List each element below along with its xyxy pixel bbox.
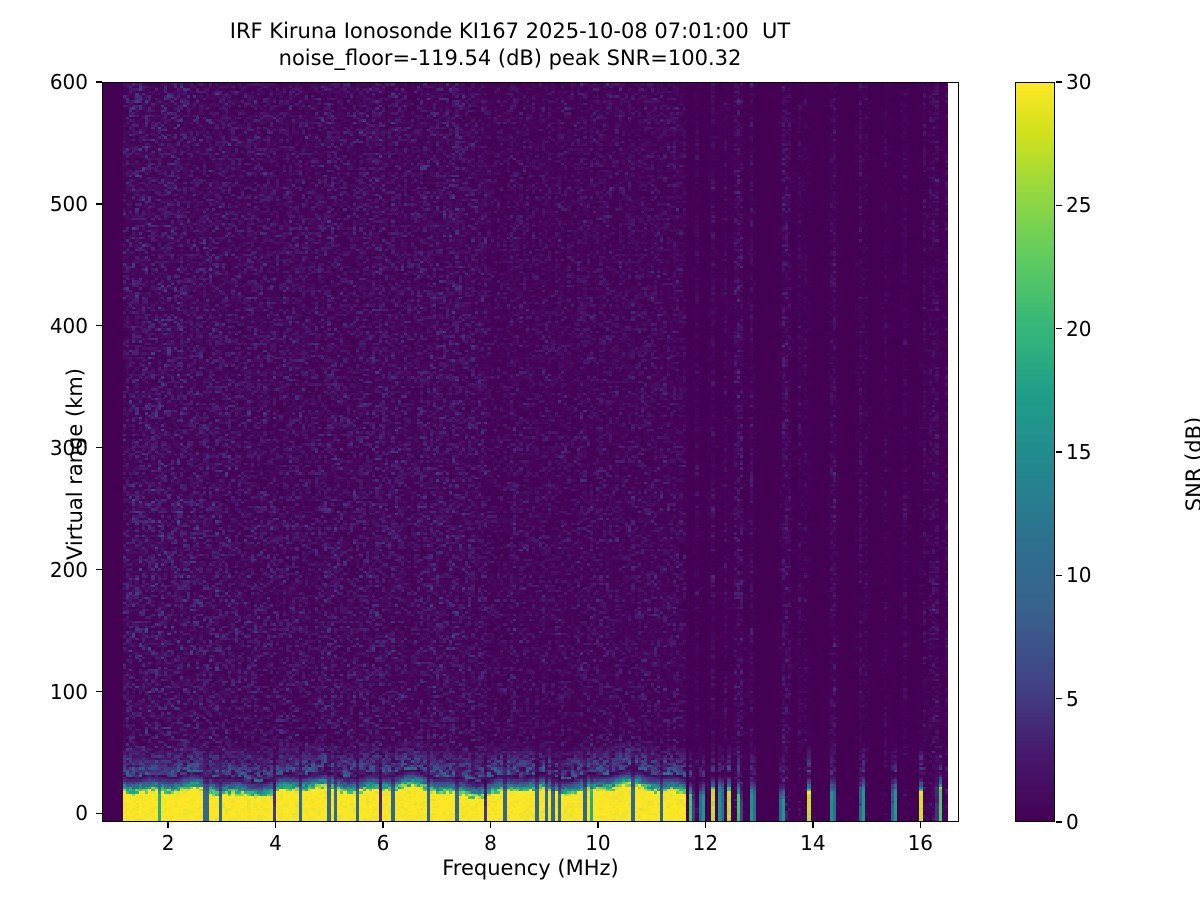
x-tick-mark — [490, 822, 491, 828]
x-tick-label: 16 — [908, 831, 933, 855]
x-tick-label: 10 — [585, 831, 610, 855]
y-tick-mark — [96, 691, 102, 692]
x-tick-mark — [597, 822, 598, 828]
colorbar-tick-mark — [1056, 451, 1062, 452]
colorbar-tick-label: 20 — [1066, 317, 1091, 341]
y-tick-mark — [96, 569, 102, 570]
colorbar-tick-label: 10 — [1066, 563, 1091, 587]
x-tick-label: 14 — [800, 831, 825, 855]
y-axis-label: Virtual range (km) — [63, 94, 87, 834]
x-tick-label: 12 — [693, 831, 718, 855]
colorbar-label: SNR (dB) — [1182, 94, 1200, 834]
colorbar — [1015, 82, 1055, 822]
colorbar-tick-label: 5 — [1066, 687, 1079, 711]
y-tick-mark — [96, 325, 102, 326]
y-tick-mark — [96, 203, 102, 204]
x-tick-mark — [167, 822, 168, 828]
colorbar-tick-mark — [1056, 821, 1062, 822]
x-axis-label: Frequency (MHz) — [102, 856, 959, 880]
chart-title: IRF Kiruna Ionosonde KI167 2025-10-08 07… — [0, 18, 1020, 73]
title-line-1: IRF Kiruna Ionosonde KI167 2025-10-08 07… — [0, 18, 1020, 45]
x-tick-mark — [705, 822, 706, 828]
y-tick-mark — [96, 447, 102, 448]
x-tick-mark — [382, 822, 383, 828]
colorbar-tick-label: 0 — [1066, 810, 1079, 834]
colorbar-tick-mark — [1056, 575, 1062, 576]
colorbar-tick-mark — [1056, 328, 1062, 329]
plot-area — [102, 82, 959, 822]
ionogram-figure: IRF Kiruna Ionosonde KI167 2025-10-08 07… — [0, 0, 1200, 900]
x-tick-label: 4 — [269, 831, 282, 855]
x-tick-label: 8 — [484, 831, 497, 855]
colorbar-tick-mark — [1056, 205, 1062, 206]
colorbar-tick-label: 30 — [1066, 70, 1091, 94]
x-tick-label: 6 — [377, 831, 390, 855]
x-tick-mark — [812, 822, 813, 828]
colorbar-tick-label: 25 — [1066, 193, 1091, 217]
title-line-2: noise_floor=-119.54 (dB) peak SNR=100.32 — [0, 45, 1020, 72]
y-tick-mark — [96, 81, 102, 82]
colorbar-tick-label: 15 — [1066, 440, 1091, 464]
colorbar-tick-mark — [1056, 81, 1062, 82]
heatmap-image — [103, 83, 954, 821]
colorbar-tick-mark — [1056, 698, 1062, 699]
y-tick-mark — [96, 813, 102, 814]
x-tick-label: 2 — [162, 831, 175, 855]
y-tick-label: 600 — [0, 70, 88, 94]
ionogram-canvas — [103, 83, 954, 821]
x-tick-mark — [275, 822, 276, 828]
x-tick-mark — [920, 822, 921, 828]
